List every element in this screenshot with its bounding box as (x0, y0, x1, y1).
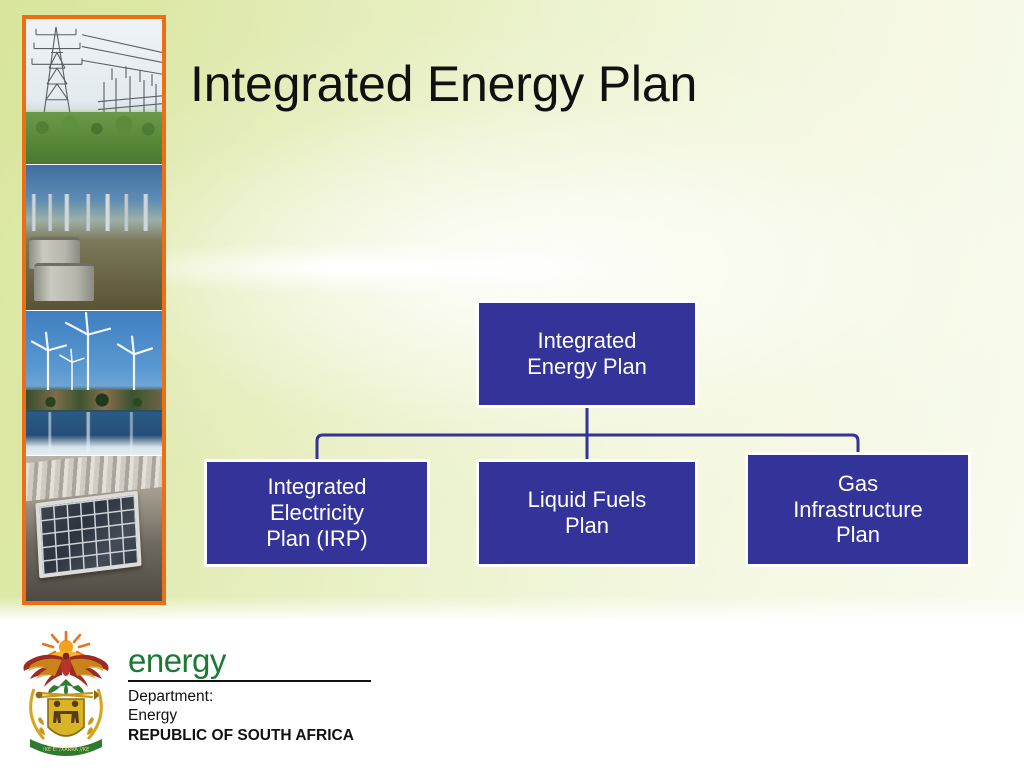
node-label: Liquid FuelsPlan (485, 487, 689, 539)
node-label: IntegratedEnergy Plan (485, 328, 689, 380)
slide-footer: !KE E: /XARRA //KE energy Department: En… (0, 622, 1024, 768)
department-name: Department: Energy (128, 688, 408, 726)
department-line-2: Energy (128, 707, 177, 724)
south-african-coat-of-arms: !KE E: /XARRA //KE (14, 631, 118, 759)
node-label: IntegratedElectricityPlan (IRP) (213, 474, 421, 552)
node-gas-infrastructure-plan[interactable]: GasInfrastructurePlan (745, 452, 971, 567)
node-integrated-electricity-plan[interactable]: IntegratedElectricityPlan (IRP) (204, 459, 430, 567)
node-label: GasInfrastructurePlan (754, 471, 962, 549)
node-liquid-fuels-plan[interactable]: Liquid FuelsPlan (476, 459, 698, 567)
energy-department-logo: energy Department: Energy REPUBLIC OF SO… (128, 644, 408, 745)
presentation-slide: Integrated Energy Plan IntegratedEnergy … (0, 0, 1024, 768)
department-line-1: Department: (128, 688, 213, 705)
org-diagram: IntegratedEnergy Plan IntegratedElectric… (0, 0, 1024, 622)
logo-wordmark: energy (128, 644, 408, 677)
country-name: REPUBLIC OF SOUTH AFRICA (128, 727, 408, 746)
svg-text:!KE E: /XARRA //KE: !KE E: /XARRA //KE (43, 747, 90, 753)
node-integrated-energy-plan[interactable]: IntegratedEnergy Plan (476, 300, 698, 408)
logo-divider (128, 680, 371, 682)
